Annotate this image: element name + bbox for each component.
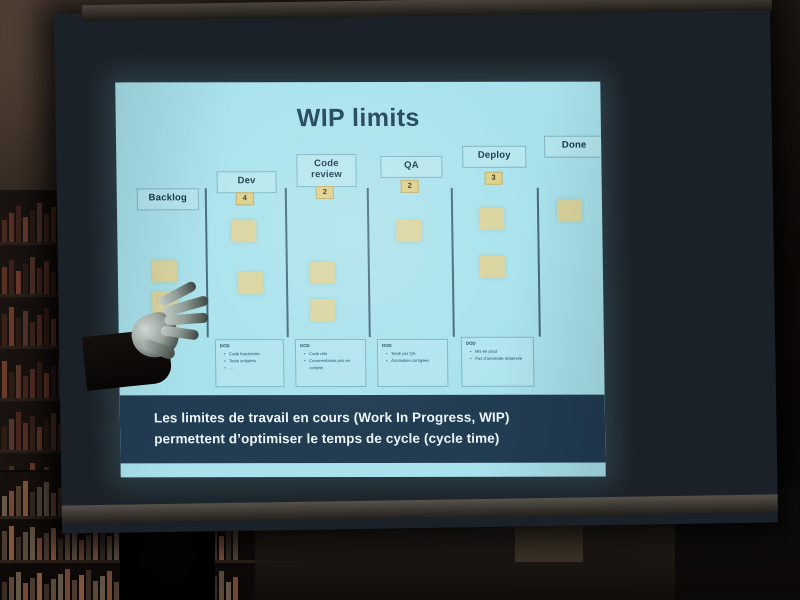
book-spine (51, 366, 56, 398)
book-spine (16, 486, 21, 516)
book-spine (79, 575, 84, 600)
book-spine (16, 537, 21, 560)
kanban-card[interactable] (557, 200, 582, 222)
book-spine (2, 361, 7, 398)
kanban-card[interactable] (479, 208, 504, 230)
book-spine (16, 206, 21, 242)
book-spine (86, 570, 91, 600)
book-spine (93, 530, 98, 560)
column-divider (205, 188, 209, 337)
book-spine (37, 315, 42, 346)
book-spine (226, 531, 231, 560)
dod-list: Code relu Commentaires pris en compte (300, 351, 362, 371)
book-spine (23, 217, 28, 242)
book-spine (51, 272, 56, 294)
dod-list: Code fonctionne Tests unitaires … (220, 351, 280, 372)
dod-item: Pas d’anomalie observée (471, 356, 530, 363)
book-spine (51, 319, 56, 346)
kanban-board: Backlog Dev 4 DOD Code fonctionne Tests … (130, 144, 592, 390)
kanban-card[interactable] (152, 260, 177, 282)
book-spine (2, 531, 7, 560)
book-spine (51, 493, 56, 516)
kanban-card[interactable] (238, 272, 263, 294)
kanban-card[interactable] (152, 291, 177, 313)
board-column-code-review: Code review 2 DOD Code relu Commentaires… (288, 144, 367, 389)
book-spine (2, 426, 7, 450)
dod-item: Tests unitaires (225, 358, 280, 365)
dod-box-dev: DOD Code fonctionne Tests unitaires … (215, 339, 285, 387)
book-spine (9, 213, 14, 242)
book-spine (107, 571, 112, 600)
column-divider (537, 188, 541, 337)
book-spine (72, 580, 77, 600)
column-header-qa[interactable]: QA (380, 156, 442, 178)
dod-list: Mis en prod Pas d’anomalie observée (466, 349, 530, 363)
book-spine (2, 496, 7, 516)
wip-limit-badge-code-review: 2 (316, 186, 334, 199)
book-spine (23, 583, 28, 600)
book-spine (23, 423, 28, 450)
dod-item: Code relu (305, 351, 362, 358)
slide-caption: Les limites de travail en cours (Work In… (120, 395, 606, 464)
dod-box-deploy: DOD Mis en prod Pas d’anomalie observée (461, 337, 535, 387)
book-spine (44, 214, 49, 242)
kanban-card[interactable] (396, 220, 421, 242)
dod-title: DOD (382, 343, 444, 350)
book-spine (37, 203, 42, 242)
book-spine (114, 531, 119, 560)
book-spine (30, 492, 35, 516)
column-header-backlog[interactable]: Backlog (137, 188, 199, 210)
book-spine (9, 491, 14, 516)
wip-limit-badge-deploy: 3 (485, 172, 503, 185)
kanban-card[interactable] (153, 322, 178, 344)
column-header-code-review[interactable]: Code review (296, 154, 356, 187)
book-spine (2, 314, 7, 346)
book-spine (44, 584, 49, 600)
dod-item: Mis en prod (471, 349, 530, 356)
box-on-cabinet (515, 522, 583, 562)
book-spine (30, 322, 35, 346)
dod-title: DOD (300, 343, 362, 350)
book-spine (23, 264, 28, 294)
column-divider (285, 188, 289, 337)
book-spine (37, 362, 42, 398)
kanban-card[interactable] (231, 220, 256, 242)
book-spine (9, 372, 14, 398)
book-spine (44, 533, 49, 560)
book-spine (51, 413, 56, 450)
book-spine (114, 582, 119, 600)
slide-title: WIP limits (116, 104, 601, 134)
wip-limit-badge-dev: 4 (236, 192, 254, 205)
book-spine (107, 536, 112, 560)
book-spine (30, 527, 35, 560)
book-spine (9, 419, 14, 450)
book-spine (44, 482, 49, 516)
book-spine (93, 581, 98, 600)
book-spine (79, 540, 84, 560)
board-column-backlog: Backlog (130, 144, 205, 389)
book-spine (226, 582, 231, 600)
book-spine (16, 271, 21, 294)
dod-item: Commentaires pris en compte (305, 358, 362, 371)
book-spine (9, 577, 14, 600)
dod-title: DOD (466, 341, 530, 348)
book-spine (100, 576, 105, 600)
book-spine (30, 257, 35, 294)
kanban-card[interactable] (310, 299, 335, 321)
book-spine (233, 526, 238, 560)
screen-top-rail (82, 0, 772, 21)
book-spine (30, 416, 35, 450)
book-spine (9, 260, 14, 294)
book-spine (58, 539, 63, 560)
book-spine (72, 529, 77, 560)
book-spine (16, 572, 21, 600)
book-spine (2, 582, 7, 600)
screen-bottom-rail (62, 494, 778, 523)
book-spine (23, 376, 28, 398)
column-divider (367, 188, 371, 337)
column-header-dev[interactable]: Dev (216, 171, 276, 193)
book-spine (37, 487, 42, 516)
projection-scene: WIP limits Backlog Dev 4 DOD Code fonc (0, 0, 800, 600)
kanban-card[interactable] (310, 262, 335, 284)
book-spine (37, 268, 42, 294)
book-spine (51, 579, 56, 600)
book-spine (30, 369, 35, 398)
book-spine (65, 569, 70, 600)
book-spine (16, 412, 21, 450)
board-column-dev: Dev 4 DOD Code fonctionne Tests unitaire… (208, 144, 285, 389)
book-spine (86, 535, 91, 560)
board-column-deploy: Deploy 3 DOD Mis en prod Pas d’anomalie … (454, 144, 537, 389)
book-spine (16, 318, 21, 346)
dod-box-qa: DOD Testé par QA Anomalies corrigées (377, 339, 449, 387)
column-header-done[interactable]: Done (544, 136, 604, 158)
dod-list: Testé par QA Anomalies corrigées (382, 351, 444, 365)
book-spine (51, 207, 56, 242)
book-spine (16, 365, 21, 398)
book-spine (23, 311, 28, 346)
dod-item: Anomalies corrigées (387, 358, 444, 365)
board-column-qa: QA 2 DOD Testé par QA Anomalies corrigée… (370, 144, 451, 389)
book-spine (44, 308, 49, 346)
wip-limit-badge-qa: 2 (401, 180, 419, 193)
book-spine (30, 210, 35, 242)
book-spine (2, 220, 7, 242)
dod-item: … (225, 365, 280, 372)
caption-line-1: Les limites de travail en cours (Work In… (154, 408, 605, 430)
book-spine (2, 267, 7, 294)
book-spine (30, 578, 35, 600)
book-spine (44, 261, 49, 294)
book-spine (37, 538, 42, 560)
book-spine (51, 528, 56, 560)
dod-item: Testé par QA (387, 351, 444, 358)
book-spine (37, 573, 42, 600)
column-divider (451, 188, 455, 337)
column-header-deploy[interactable]: Deploy (462, 146, 526, 168)
book-spine (9, 307, 14, 346)
book-spine (44, 373, 49, 398)
board-column-done: Done (542, 144, 603, 389)
dod-box-code-review: DOD Code relu Commentaires pris en compt… (295, 339, 367, 387)
book-spine (219, 571, 224, 600)
caption-line-2: permettent d’optimiser le temps de cycle… (154, 429, 605, 451)
book-spine (65, 534, 70, 560)
book-spine (23, 532, 28, 560)
dod-item: Code fonctionne (225, 351, 280, 358)
presentation-slide: WIP limits Backlog Dev 4 DOD Code fonc (115, 82, 606, 478)
book-spine (233, 577, 238, 600)
book-spine (37, 427, 42, 450)
book-spine (58, 574, 63, 600)
dod-title: DOD (220, 343, 280, 350)
kanban-card[interactable] (480, 256, 505, 278)
book-spine (219, 536, 224, 560)
book-spine (23, 481, 28, 516)
book-spine (9, 526, 14, 560)
book-spine (44, 420, 49, 450)
